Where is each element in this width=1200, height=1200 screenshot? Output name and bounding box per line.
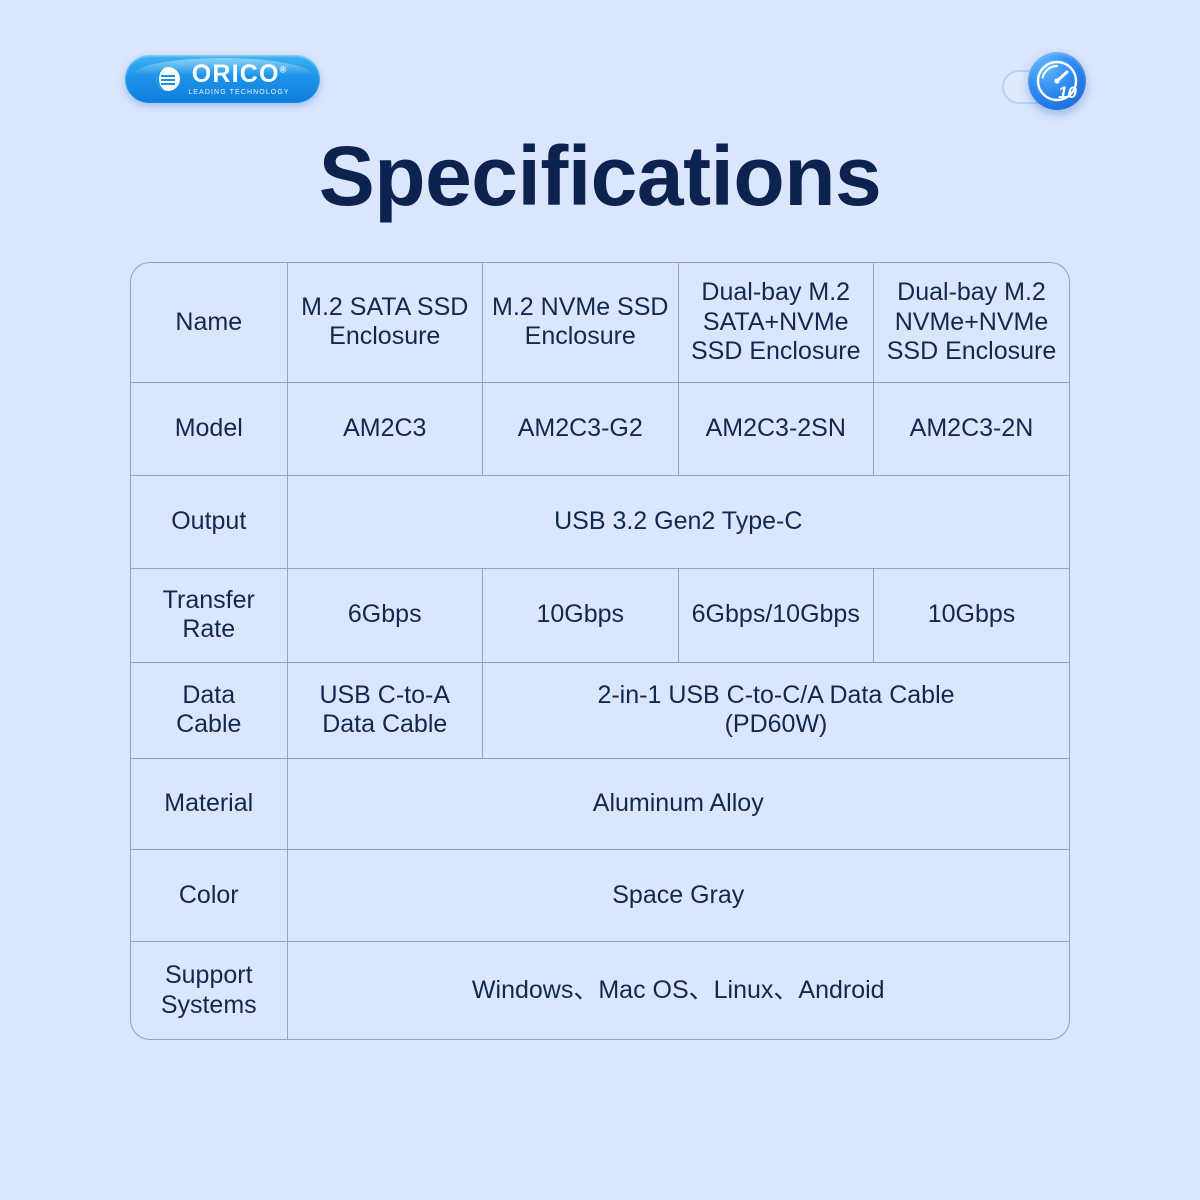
speedometer-icon: 10	[1028, 52, 1086, 110]
cell-support-systems-all: Windows、Mac OS、Linux、Android	[287, 942, 1069, 1039]
table-row-model: Model AM2C3 AM2C3-G2 AM2C3-2SN AM2C3-2N	[131, 382, 1069, 475]
cell-line: 2-in-1 USB C-to-C/A Data Cable	[597, 681, 954, 709]
table-row-output: Output USB 3.2 Gen2 Type-C	[131, 475, 1069, 568]
row-label-model: Model	[131, 382, 287, 475]
cell-line: M.2 SATA SSD	[301, 293, 468, 321]
label-line: Rate	[182, 615, 235, 643]
label-line: Systems	[161, 991, 257, 1019]
table-row-color: Color Space Gray	[131, 849, 1069, 942]
table-row-support-systems: Support Systems Windows、Mac OS、Linux、And…	[131, 942, 1069, 1039]
cell-line: Data Cable	[322, 710, 447, 738]
page-header: ORICO® LEADING TECHNOLOGY 10	[0, 0, 1200, 130]
cell-cable-merged: 2-in-1 USB C-to-C/A Data Cable (PD60W)	[483, 662, 1070, 758]
cell-color-all: Space Gray	[287, 849, 1069, 942]
row-label-name: Name	[131, 263, 287, 382]
cell-line: SSD Enclosure	[887, 337, 1057, 365]
label-line: Support	[165, 961, 253, 989]
cell-model-col3: AM2C3-2SN	[678, 382, 874, 475]
specifications-table: Name M.2 SATA SSD Enclosure M.2 NVMe SSD…	[130, 262, 1070, 1040]
row-label-transfer-rate: Transfer Rate	[131, 568, 287, 662]
cell-line: (PD60W)	[725, 710, 828, 738]
label-line: Cable	[176, 710, 241, 738]
registered-mark: ®	[280, 65, 287, 75]
cell-line: USB C-to-A	[319, 681, 450, 709]
cell-name-col3: Dual-bay M.2 SATA+NVMe SSD Enclosure	[678, 263, 874, 382]
row-label-data-cable: Data Cable	[131, 662, 287, 758]
table-row-transfer-rate: Transfer Rate 6Gbps 10Gbps 6Gbps/10Gbps …	[131, 568, 1069, 662]
cell-rate-col4: 10Gbps	[874, 568, 1070, 662]
cell-rate-col2: 10Gbps	[483, 568, 679, 662]
globe-icon	[155, 66, 181, 92]
cell-material-all: Aluminum Alloy	[287, 758, 1069, 849]
page-title: Specifications	[0, 128, 1200, 225]
cell-rate-col1: 6Gbps	[287, 568, 483, 662]
cell-line: Enclosure	[525, 322, 636, 350]
logo-wordmark: ORICO®	[192, 62, 287, 87]
cell-line: SSD Enclosure	[691, 337, 861, 365]
table-row-data-cable: Data Cable USB C-to-A Data Cable 2-in-1 …	[131, 662, 1069, 758]
cell-model-col2: AM2C3-G2	[483, 382, 679, 475]
row-label-support-systems: Support Systems	[131, 942, 287, 1039]
cell-line: SATA+NVMe	[703, 308, 849, 336]
label-line: Data	[182, 681, 235, 709]
speed-badge: 10	[1002, 52, 1100, 110]
cell-name-col4: Dual-bay M.2 NVMe+NVMe SSD Enclosure	[874, 263, 1070, 382]
badge-value: 10	[1058, 84, 1077, 101]
logo-tagline: LEADING TECHNOLOGY	[188, 89, 289, 96]
logo-name: ORICO	[192, 60, 280, 88]
table-row-name: Name M.2 SATA SSD Enclosure M.2 NVMe SSD…	[131, 263, 1069, 382]
cell-line: NVMe+NVMe	[895, 308, 1049, 336]
cell-line: M.2 NVMe SSD	[492, 293, 668, 321]
row-label-output: Output	[131, 475, 287, 568]
orico-logo[interactable]: ORICO® LEADING TECHNOLOGY	[125, 55, 320, 103]
cell-line: Enclosure	[329, 322, 440, 350]
cell-model-col1: AM2C3	[287, 382, 483, 475]
cell-rate-col3: 6Gbps/10Gbps	[678, 568, 874, 662]
row-label-material: Material	[131, 758, 287, 849]
label-line: Transfer	[163, 586, 255, 614]
logo-text: ORICO® LEADING TECHNOLOGY	[188, 62, 289, 96]
row-label-color: Color	[131, 849, 287, 942]
cell-line: Dual-bay M.2	[701, 278, 850, 306]
cell-output-all: USB 3.2 Gen2 Type-C	[287, 475, 1069, 568]
cell-line: Dual-bay M.2	[897, 278, 1046, 306]
cell-model-col4: AM2C3-2N	[874, 382, 1070, 475]
cell-name-col1: M.2 SATA SSD Enclosure	[287, 263, 483, 382]
cell-cable-col1: USB C-to-A Data Cable	[287, 662, 483, 758]
cell-name-col2: M.2 NVMe SSD Enclosure	[483, 263, 679, 382]
table-row-material: Material Aluminum Alloy	[131, 758, 1069, 849]
